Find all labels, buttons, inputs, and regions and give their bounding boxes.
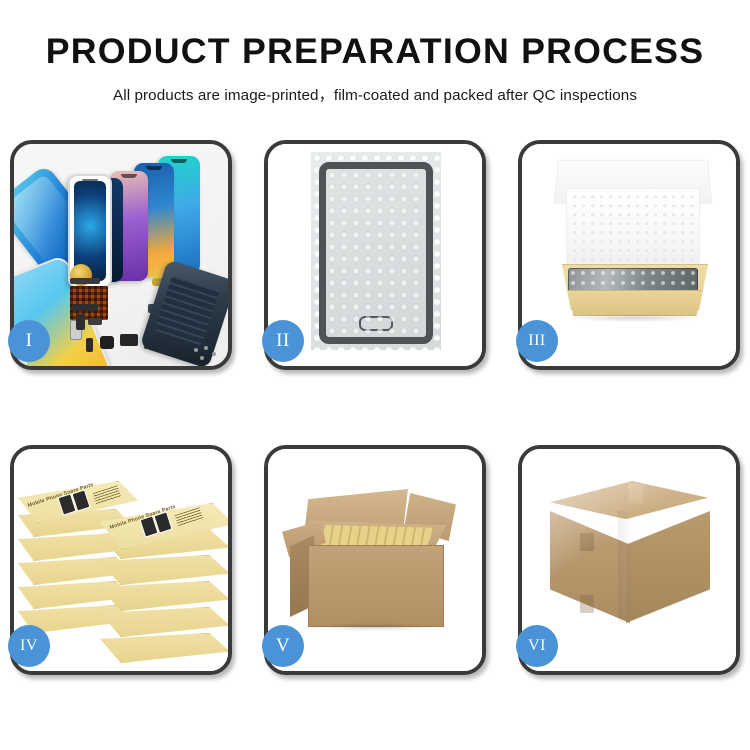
side-button-part [86,338,93,352]
step-panel-6: VI [518,445,740,675]
page-subtitle: All products are image-printed，film-coat… [0,83,750,105]
carton-handle-tab [580,533,594,551]
screws-group [192,344,222,364]
carton-front-face [308,545,444,627]
speaker-part [120,334,138,346]
kraft-box-front [565,290,705,316]
bubble-wrap-sheet [311,152,441,350]
wrapped-phone-screen [319,162,433,344]
notch-icon [171,159,187,163]
box-shadow [568,314,700,322]
step-badge-5: V [262,625,304,667]
step-panel-1: I [10,140,232,370]
step-badge-6: VI [516,625,558,667]
speaker-mesh-part [70,278,100,284]
carton-corner-seam [618,511,634,623]
step-badge-3: III [516,320,558,362]
step-badge-2: II [262,320,304,362]
step-panel-2: II [264,140,486,370]
page-title: PRODUCT PREPARATION PROCESS [0,34,750,69]
step-badge-1: I [8,320,50,362]
flex-cable-part [76,314,85,330]
carton-handle-tab [580,595,594,613]
infographic-page: PRODUCT PREPARATION PROCESS All products… [0,0,750,750]
step-panel-4: Mobile Phone Spare Parts Mobile Phone Sp… [10,445,232,675]
carton-right-face [626,511,710,623]
notch-icon [82,179,98,183]
step-panel-5: V [264,445,486,675]
stacked-box [100,555,228,585]
carton-shadow [312,623,438,631]
foam-padding [566,188,700,268]
camera-module-part [100,336,114,349]
step-panel-3: III [518,140,740,370]
header: PRODUCT PREPARATION PROCESS All products… [0,0,750,105]
flex-cable-part [72,304,98,311]
notch-icon [121,174,137,178]
notch-icon [146,166,162,170]
box-stack: Mobile Phone Spare Parts Mobile Phone Sp… [16,465,228,665]
process-step-grid: I II [10,140,740,675]
packed-screen [568,268,698,292]
step-badge-4: IV [8,625,50,667]
stacked-box [100,633,228,663]
flex-cable-part [88,318,102,325]
